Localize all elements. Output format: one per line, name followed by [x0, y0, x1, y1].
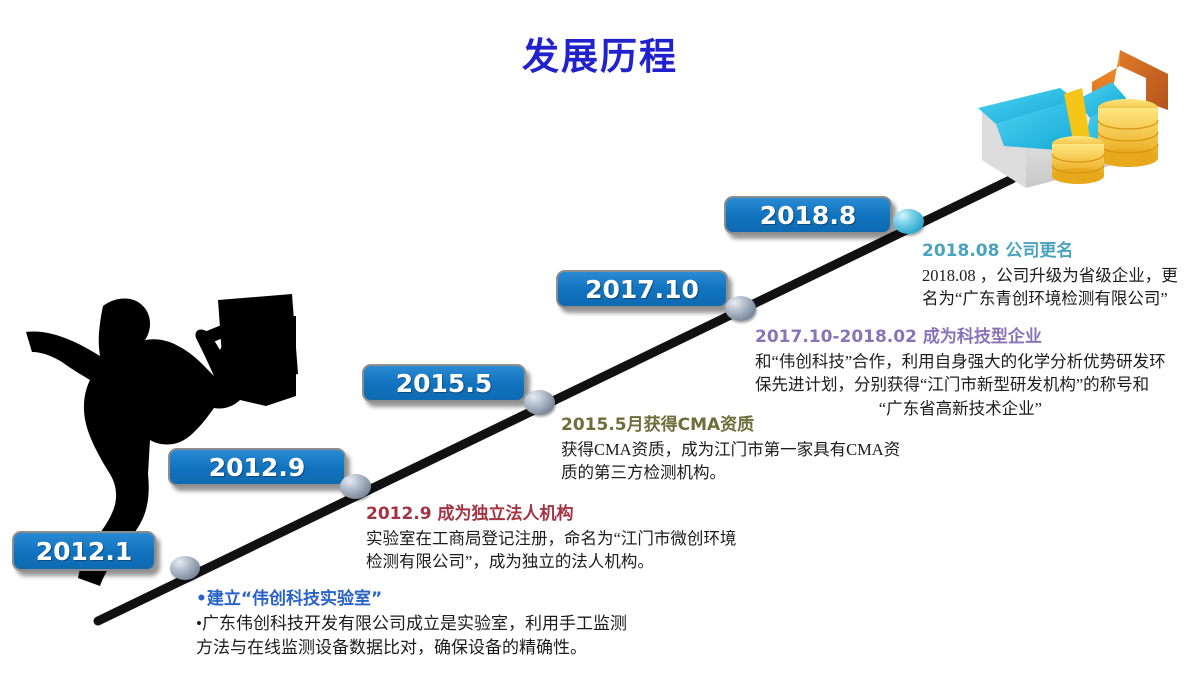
event-2018-8-line-1: 2018.08 ，公司升级为省级企业，更: [922, 264, 1178, 287]
timeline-node-2012-9[interactable]: [340, 474, 371, 499]
chip-2012-1[interactable]: 2012.1: [12, 531, 156, 571]
event-2012-9: 2012.9 成为独立法人机构 实验室在工商局登记注册，命名为“江门市微创环境 …: [366, 499, 736, 574]
event-2018-8-heading: 2018.08 公司更名: [922, 236, 1178, 261]
timeline-node-2012-1[interactable]: [170, 556, 200, 580]
event-2017-10-line-1: 和“伟创科技”合作，利用自身强大的化学分析优势研发环: [755, 350, 1166, 373]
chip-2018-8-label: 2018.8: [760, 201, 856, 230]
event-2018-8: 2018.08 公司更名 2018.08 ，公司升级为省级企业，更 名为“广东青…: [922, 236, 1178, 311]
event-2018-8-line-2: 名为“广东青创环境检测有限公司”: [922, 287, 1178, 310]
event-2012-9-body: 实验室在工商局登记注册，命名为“江门市微创环境 检测有限公司”，成为独立的法人机…: [366, 527, 736, 574]
chip-2015-5-label: 2015.5: [396, 369, 492, 398]
chip-2017-10-label: 2017.10: [585, 275, 699, 304]
event-2012-1-line-2: 方法与在线监测设备数据比对，确保设备的精确性。: [196, 636, 627, 660]
event-2012-1-body: •广东伟创科技开发有限公司成立是实验室，利用手工监测 方法与在线监测设备数据比对…: [196, 612, 627, 660]
event-2017-10-line-2: 保先进计划，分别获得“江门市新型研发机构”的称号和: [755, 373, 1166, 396]
chip-2012-9[interactable]: 2012.9: [168, 448, 346, 486]
event-2018-8-body: 2018.08 ，公司升级为省级企业，更 名为“广东青创环境检测有限公司”: [922, 264, 1178, 311]
event-2015-5-line-1: 获得CMA资质，成为江门市第一家具有CMA资: [561, 438, 900, 461]
timeline-node-2015-5[interactable]: [524, 390, 555, 415]
slide-canvas: 发展历程: [0, 0, 1200, 675]
chip-2012-9-label: 2012.9: [209, 453, 305, 482]
event-2012-1: •建立“伟创科技实验室” •广东伟创科技开发有限公司成立是实验室，利用手工监测 …: [196, 584, 627, 660]
timeline-node-2017-10[interactable]: [725, 296, 756, 321]
event-2012-9-heading: 2012.9 成为独立法人机构: [366, 499, 736, 524]
event-2017-10-body: 和“伟创科技”合作，利用自身强大的化学分析优势研发环 保先进计划，分别获得“江门…: [755, 350, 1166, 420]
timeline-node-2018-8[interactable]: [893, 209, 924, 234]
event-2015-5-line-2: 质的第三方检测机构。: [561, 461, 900, 484]
event-2012-9-line-2: 检测有限公司”，成为独立的法人机构。: [366, 550, 736, 573]
event-2012-9-line-1: 实验室在工商局登记注册，命名为“江门市微创环境: [366, 527, 736, 550]
event-2015-5: 2015.5月获得CMA资质 获得CMA资质，成为江门市第一家具有CMA资 质的…: [561, 410, 900, 485]
chip-2018-8[interactable]: 2018.8: [724, 196, 892, 234]
chip-2017-10[interactable]: 2017.10: [556, 270, 728, 308]
growth-house-coins-icon: [960, 48, 1190, 193]
event-2017-10: 2017.10-2018.02 成为科技型企业 和“伟创科技”合作，利用自身强大…: [755, 322, 1166, 420]
event-2017-10-heading: 2017.10-2018.02 成为科技型企业: [755, 322, 1166, 347]
event-2015-5-body: 获得CMA资质，成为江门市第一家具有CMA资 质的第三方检测机构。: [561, 438, 900, 485]
event-2017-10-line-3: “广东省高新技术企业”: [755, 397, 1166, 420]
chip-2015-5[interactable]: 2015.5: [362, 364, 526, 402]
event-2012-1-line-1: •广东伟创科技开发有限公司成立是实验室，利用手工监测: [196, 612, 627, 636]
chip-2012-1-label: 2012.1: [36, 537, 132, 566]
event-2012-1-heading: •建立“伟创科技实验室”: [196, 584, 627, 609]
